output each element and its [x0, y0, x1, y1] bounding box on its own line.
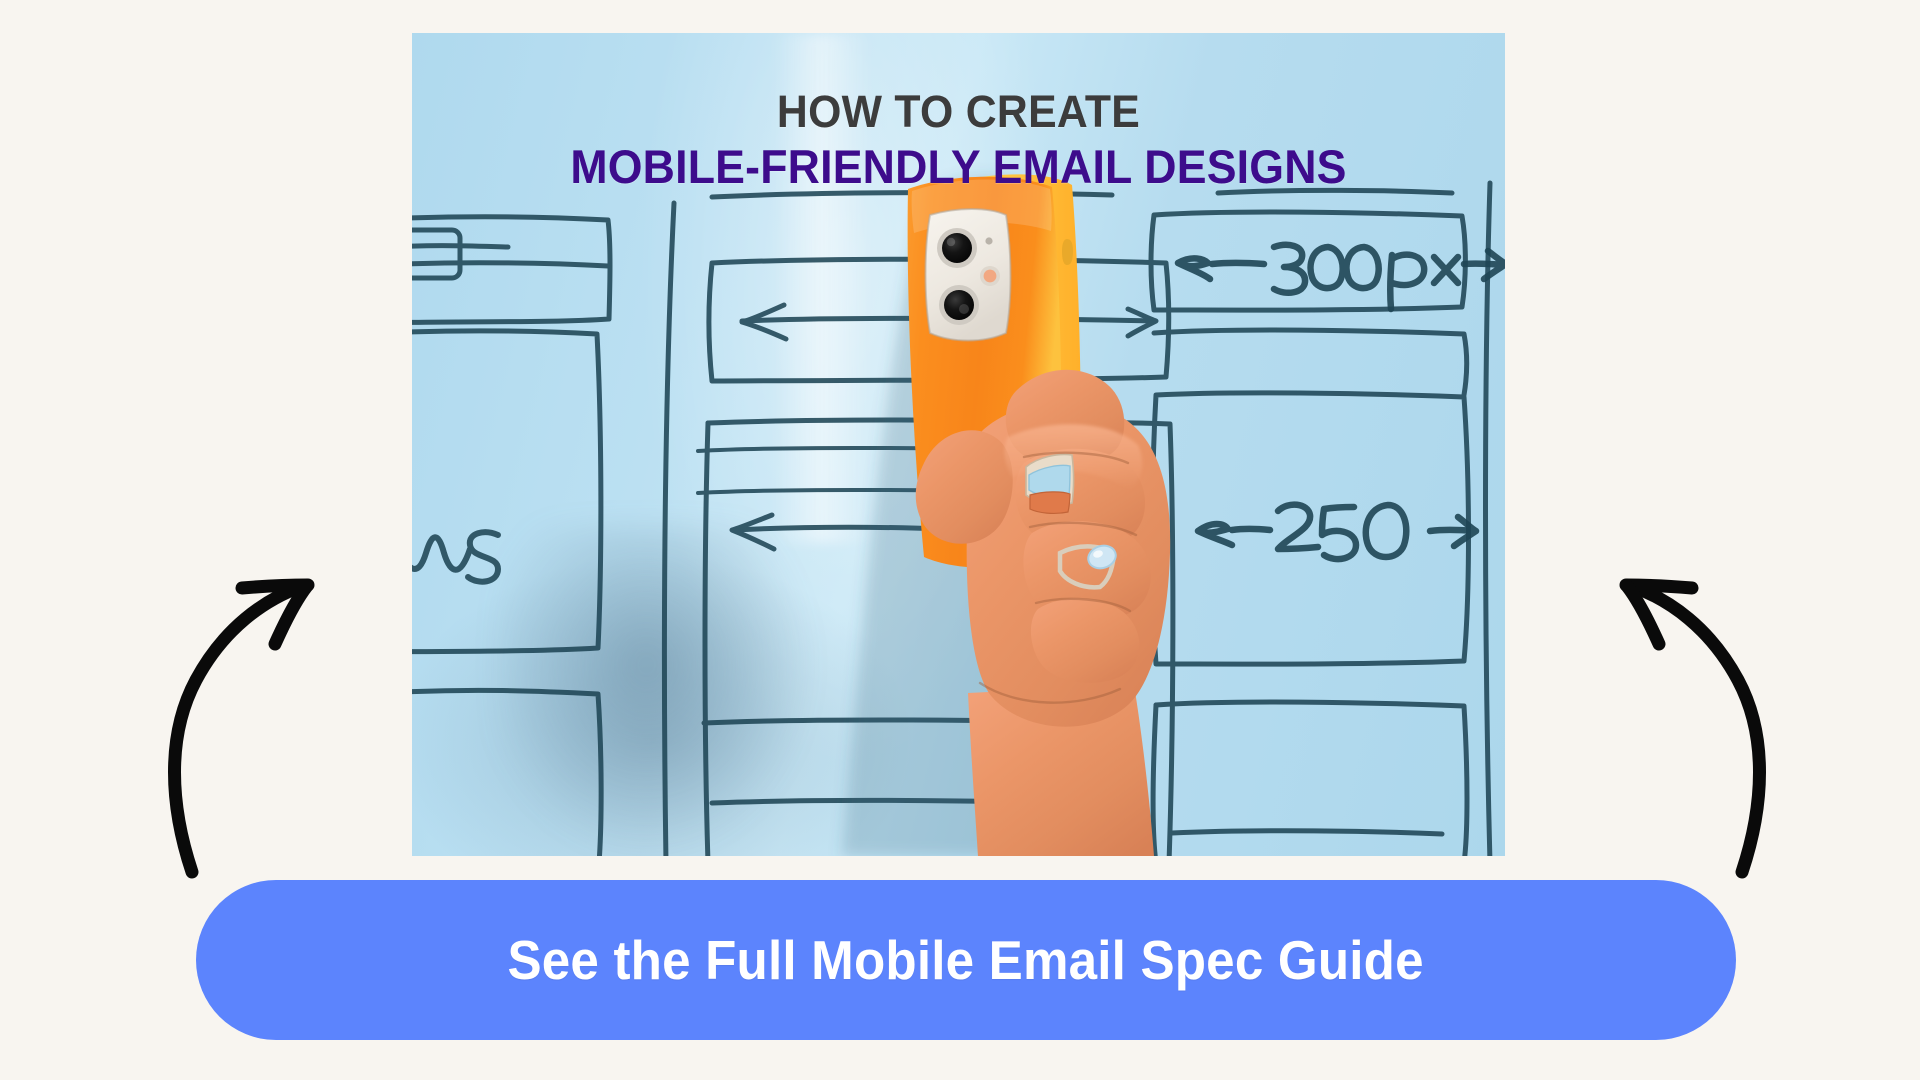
ring-stack-middle-finger [1026, 455, 1074, 514]
cta-button-label: See the Full Mobile Email Spec Guide [508, 928, 1424, 992]
hand-holding-phone [412, 33, 1505, 856]
camera-microphone [985, 237, 992, 244]
camera-flash [984, 270, 997, 283]
phone-side-button [1062, 239, 1073, 265]
camera-lens-2 [944, 290, 974, 320]
curved-arrow-up-right-icon [152, 556, 332, 886]
promo-banner: HOW TO CREATE MOBILE-FRIENDLY EMAIL DESI… [0, 0, 1920, 1080]
ring-enamel-orange [1030, 492, 1070, 514]
camera-module [926, 209, 1011, 341]
camera-lens-1 [942, 233, 972, 263]
curved-arrow-up-left-icon [1592, 556, 1782, 886]
camera-lens-2-glint [959, 304, 969, 314]
camera-lens-1-glint [947, 238, 955, 246]
cta-button[interactable]: See the Full Mobile Email Spec Guide [196, 880, 1736, 1040]
hero-image: HOW TO CREATE MOBILE-FRIENDLY EMAIL DESI… [412, 33, 1505, 856]
